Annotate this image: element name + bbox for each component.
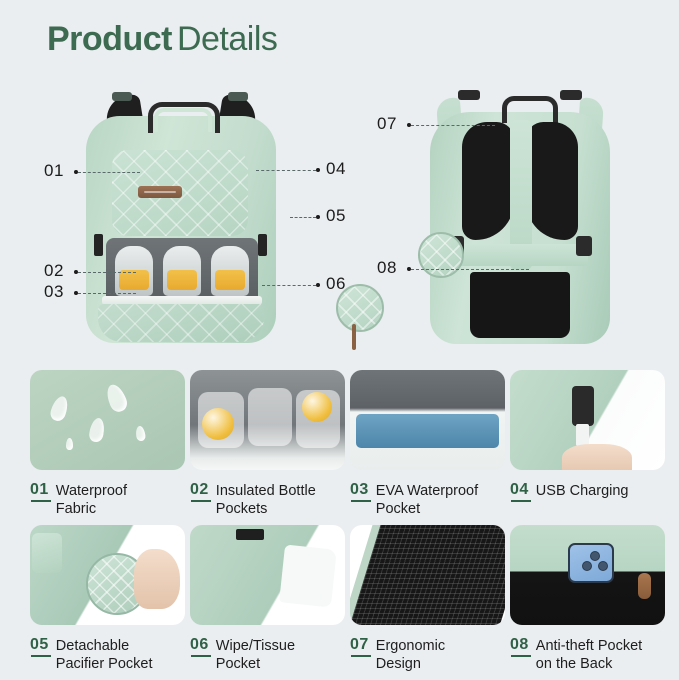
feature-thumbnail-01 [30, 370, 185, 470]
backpack-front-view [86, 88, 276, 343]
feature-label-08: Anti-theft Pocket on the Back [536, 637, 646, 673]
usb-plug [576, 424, 589, 446]
smartphone [568, 543, 614, 583]
ergonomic-design-image [350, 525, 505, 625]
back-top-handle [502, 96, 558, 123]
feature-cell-08[interactable]: 08 Anti-theft Pocket on the Back [510, 525, 665, 673]
usb-port-icon [572, 386, 594, 426]
callout-line-03 [78, 293, 136, 294]
callout-dot-06 [316, 283, 320, 287]
callout-label-05: 05 [326, 206, 346, 226]
feature-row-1: 01 Waterproof Fabric 02 Insulate [0, 370, 679, 525]
feature-cell-06[interactable]: 06 Wipe/Tissue Pocket [190, 525, 345, 673]
baby-bottle [115, 246, 153, 296]
water-droplet [66, 438, 73, 450]
camera-lens [598, 561, 608, 571]
feature-caption-02: 02 Insulated Bottle Pockets [190, 482, 345, 518]
hand [562, 444, 632, 470]
tissue [279, 544, 337, 607]
leather-logo-patch [138, 186, 182, 198]
baby-bottle [163, 246, 201, 296]
strap-cap-left [112, 92, 132, 101]
callout-label-01: 01 [44, 161, 64, 181]
strap-anchor-left [458, 90, 480, 100]
feature-thumbnail-05 [30, 525, 185, 625]
water-droplet [103, 382, 129, 414]
feature-thumbnail-07 [350, 525, 505, 625]
callout-label-02: 02 [44, 261, 64, 281]
feature-cell-04[interactable]: 04 USB Charging [510, 370, 665, 502]
feature-thumbnail-03 [350, 370, 505, 470]
usb-charging-image [510, 370, 665, 470]
feature-number-04: 04 [510, 482, 529, 502]
anti-theft-pocket-image [510, 525, 665, 625]
baby-bottle [211, 246, 249, 296]
feature-thumbnail-02 [190, 370, 345, 470]
top-handle-inner [154, 108, 212, 132]
feature-number-05: 05 [30, 637, 49, 657]
back-padding-right [526, 122, 578, 240]
wipe-tissue-pocket-image [190, 525, 345, 625]
feature-label-03: EVA Waterproof Pocket [376, 482, 486, 518]
callout-line-08 [411, 269, 529, 270]
hero-illustration: 01 02 03 04 05 06 07 08 [0, 78, 679, 368]
feature-label-07: Ergonomic Design [376, 637, 486, 673]
feature-number-06: 06 [190, 637, 209, 657]
feature-cell-05[interactable]: 05 Detachable Pacifier Pocket [30, 525, 185, 673]
feature-number-02: 02 [190, 482, 209, 502]
feature-label-01: Waterproof Fabric [56, 482, 166, 518]
camera-lens [590, 551, 600, 561]
feature-grid: 01 Waterproof Fabric 02 Insulate [0, 370, 679, 680]
feature-label-05: Detachable Pacifier Pocket [56, 637, 166, 673]
feature-caption-08: 08 Anti-theft Pocket on the Back [510, 637, 665, 673]
feature-number-01: 01 [30, 482, 49, 502]
callout-line-04 [256, 170, 316, 171]
back-padding-left [462, 122, 514, 240]
side-tab-left [94, 234, 103, 256]
callout-label-04: 04 [326, 159, 346, 179]
callout-label-06: 06 [326, 274, 346, 294]
feature-label-06: Wipe/Tissue Pocket [216, 637, 326, 673]
bottle-cap [202, 408, 234, 440]
strap-cap-right [228, 92, 248, 101]
feature-caption-01: 01 Waterproof Fabric [30, 482, 185, 518]
feature-thumbnail-04 [510, 370, 665, 470]
insulated-bottle-compartment [106, 238, 258, 300]
feature-caption-05: 05 Detachable Pacifier Pocket [30, 637, 185, 673]
back-pacifier-pouch [418, 232, 464, 278]
water-droplet [49, 394, 71, 422]
feature-thumbnail-06 [190, 525, 345, 625]
side-tab-right [258, 234, 267, 256]
feature-number-07: 07 [350, 637, 369, 657]
feature-thumbnail-08 [510, 525, 665, 625]
feature-cell-01[interactable]: 01 Waterproof Fabric [30, 370, 185, 518]
waterproof-fabric-image [30, 370, 185, 470]
hand [134, 549, 180, 609]
feature-number-03: 03 [350, 482, 369, 502]
feature-row-2: 05 Detachable Pacifier Pocket 06 Wipe/Ti… [0, 525, 679, 680]
callout-line-07 [411, 125, 495, 126]
callout-label-08: 08 [377, 258, 397, 278]
feature-cell-02[interactable]: 02 Insulated Bottle Pockets [190, 370, 345, 518]
callout-line-02 [78, 272, 136, 273]
callout-line-06 [262, 285, 316, 286]
callout-line-05 [290, 217, 316, 218]
feature-caption-04: 04 USB Charging [510, 482, 665, 502]
bottle-pocket [248, 388, 292, 446]
page-title: ProductDetails [47, 20, 277, 59]
feature-caption-06: 06 Wipe/Tissue Pocket [190, 637, 345, 673]
camera-lens [582, 561, 592, 571]
strap-anchor-right [560, 90, 582, 100]
product-details-infographic: ProductDetails [0, 0, 679, 679]
callout-dot-05 [316, 215, 320, 219]
back-lumbar-band [452, 244, 588, 266]
page-title-light: Details [177, 20, 277, 58]
feature-label-02: Insulated Bottle Pockets [216, 482, 326, 518]
velcro-strip [236, 529, 264, 540]
page-title-bold: Product [47, 20, 172, 58]
bottle-cap [302, 392, 332, 422]
eva-waterproof-pocket-image [350, 370, 505, 470]
detachable-pacifier-pocket-image [30, 525, 185, 625]
feature-label-04: USB Charging [536, 482, 629, 500]
insulated-bottle-pockets-image [190, 370, 345, 470]
callout-line-01 [78, 172, 140, 173]
feature-cell-03[interactable]: 03 EVA Waterproof Pocket [350, 370, 505, 518]
eva-blue-panel [356, 414, 499, 448]
callout-label-03: 03 [44, 282, 64, 302]
water-droplet [135, 425, 146, 441]
anti-theft-back-pocket [470, 272, 570, 338]
feature-cell-07[interactable]: 07 Ergonomic Design [350, 525, 505, 673]
water-droplet [88, 417, 106, 443]
feature-caption-07: 07 Ergonomic Design [350, 637, 505, 673]
lower-quilted-panel [98, 304, 264, 342]
callout-dot-04 [316, 168, 320, 172]
pouch-strap [352, 324, 356, 350]
feature-caption-03: 03 EVA Waterproof Pocket [350, 482, 505, 518]
leather-pull-tab [638, 573, 651, 599]
feature-number-08: 08 [510, 637, 529, 657]
side-pocket [32, 533, 62, 573]
buckle-right [576, 236, 592, 256]
callout-label-07: 07 [377, 114, 397, 134]
